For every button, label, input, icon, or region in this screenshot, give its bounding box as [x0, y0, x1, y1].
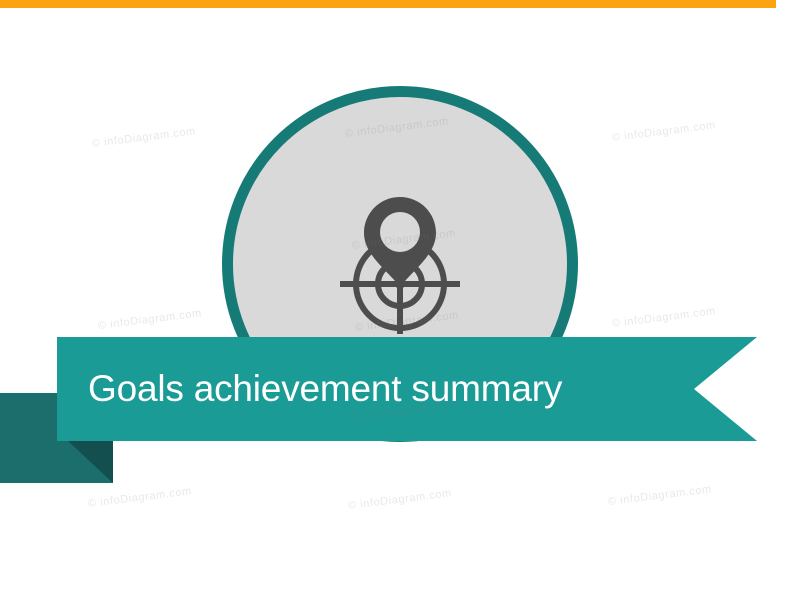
top-accent-bar: [0, 0, 776, 8]
watermark-text: © infoDiagram.com: [91, 125, 196, 150]
watermark-text: © infoDiagram.com: [347, 487, 452, 512]
map-pin-hole: [380, 212, 420, 252]
location-pin-target-icon: [334, 189, 466, 339]
watermark-text: © infoDiagram.com: [611, 119, 716, 144]
watermark-text: © infoDiagram.com: [87, 485, 192, 510]
watermark-text: © infoDiagram.com: [611, 305, 716, 330]
watermark-text: © infoDiagram.com: [607, 483, 712, 508]
watermark-text: © infoDiagram.com: [97, 307, 202, 332]
page-title: Goals achievement summary: [88, 337, 562, 441]
slide-canvas: Goals achievement summary © infoDiagram.…: [0, 0, 800, 600]
